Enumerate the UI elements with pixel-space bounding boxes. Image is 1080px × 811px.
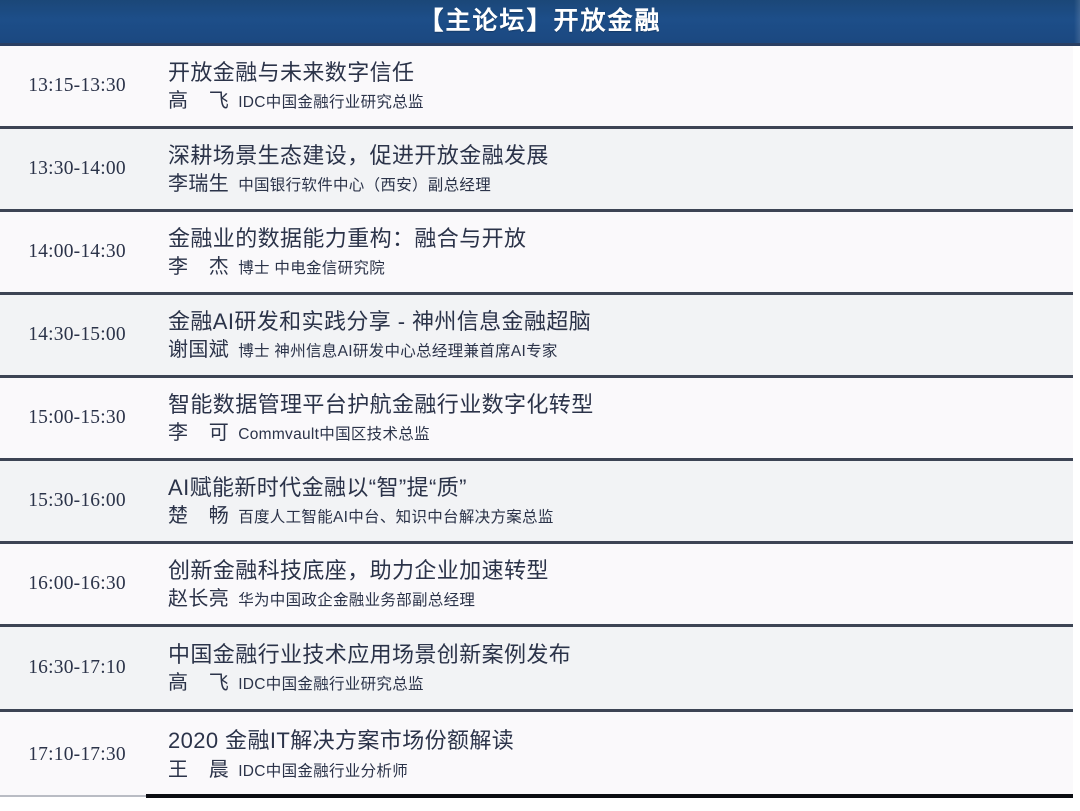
- session-time-cell: 15:00-15:30: [0, 378, 160, 458]
- session-speaker-line: 王 晨 IDC中国金融行业分析师: [168, 758, 1063, 782]
- session-time: 16:00-16:30: [28, 573, 126, 595]
- session-time-cell: 15:30-16:00: [0, 461, 160, 541]
- speaker-org: 博士 中电金信研究院: [238, 260, 385, 279]
- speaker-name: 李 杰: [168, 255, 229, 279]
- speaker-name: 李瑞生: [168, 172, 229, 196]
- session-row: 13:30-14:00 深耕场景生态建设，促进开放金融发展 李瑞生 中国银行软件…: [0, 129, 1073, 212]
- session-time: 14:00-14:30: [28, 241, 126, 263]
- session-time-cell: 16:00-16:30: [0, 544, 160, 624]
- session-row: 17:10-17:30 2020 金融IT解决方案市场份额解读 王 晨 IDC中…: [0, 712, 1073, 797]
- speaker-org: 华为中国政企金融业务部副总经理: [238, 592, 475, 611]
- session-time-cell: 14:00-14:30: [0, 212, 160, 292]
- session-info-cell: 创新金融科技底座，助力企业加速转型 赵长亮 华为中国政企金融业务部副总经理: [160, 544, 1073, 624]
- session-time: 17:10-17:30: [28, 744, 126, 766]
- session-time: 14:30-15:00: [28, 324, 126, 346]
- session-title: 智能数据管理平台护航金融行业数字化转型: [168, 391, 1063, 419]
- session-title: 中国金融行业技术应用场景创新案例发布: [168, 641, 1063, 669]
- session-time: 13:30-14:00: [28, 158, 126, 180]
- speaker-name: 谢国斌: [168, 338, 229, 362]
- session-info-cell: 金融业的数据能力重构：融合与开放 李 杰 博士 中电金信研究院: [160, 212, 1073, 292]
- speaker-org: 百度人工智能AI中台、知识中台解决方案总监: [238, 509, 553, 528]
- forum-banner: 【主论坛】开放金融: [0, 0, 1080, 46]
- session-time-cell: 13:15-13:30: [0, 46, 160, 126]
- session-time-cell: 17:10-17:30: [0, 712, 160, 797]
- session-speaker-line: 谢国斌 博士 神州信息AI研发中心总经理兼首席AI专家: [168, 338, 1063, 362]
- speaker-org: Commvault中国区技术总监: [238, 426, 430, 445]
- session-row: 15:30-16:00 AI赋能新时代金融以“智”提“质” 楚 畅 百度人工智能…: [0, 461, 1073, 544]
- speaker-org: 博士 神州信息AI研发中心总经理兼首席AI专家: [238, 343, 558, 362]
- session-row: 16:00-16:30 创新金融科技底座，助力企业加速转型 赵长亮 华为中国政企…: [0, 544, 1073, 627]
- session-title: 创新金融科技底座，助力企业加速转型: [168, 557, 1063, 585]
- session-info-cell: 深耕场景生态建设，促进开放金融发展 李瑞生 中国银行软件中心（西安）副总经理: [160, 129, 1073, 209]
- session-info-cell: 智能数据管理平台护航金融行业数字化转型 李 可 Commvault中国区技术总监: [160, 378, 1073, 458]
- session-info-cell: 2020 金融IT解决方案市场份额解读 王 晨 IDC中国金融行业分析师: [160, 712, 1073, 797]
- speaker-org: 中国银行软件中心（西安）副总经理: [238, 177, 491, 196]
- session-time: 16:30-17:10: [28, 657, 126, 679]
- session-speaker-line: 赵长亮 华为中国政企金融业务部副总经理: [168, 587, 1063, 611]
- banner-title: 【主论坛】开放金融: [418, 9, 661, 34]
- speaker-name: 高 飞: [168, 671, 229, 695]
- speaker-name: 李 可: [168, 421, 229, 445]
- speaker-org: IDC中国金融行业研究总监: [238, 94, 424, 113]
- session-title: 金融AI研发和实践分享 - 神州信息金融超脑: [168, 308, 1063, 336]
- session-speaker-line: 李 可 Commvault中国区技术总监: [168, 421, 1063, 445]
- session-time: 15:30-16:00: [28, 490, 126, 512]
- speaker-org: IDC中国金融行业分析师: [238, 763, 408, 782]
- session-title: 金融业的数据能力重构：融合与开放: [168, 225, 1063, 253]
- speaker-name: 高 飞: [168, 89, 229, 113]
- agenda-page: 【主论坛】开放金融 13:15-13:30 开放金融与未来数字信任 高 飞 ID…: [0, 0, 1080, 811]
- session-speaker-line: 李瑞生 中国银行软件中心（西安）副总经理: [168, 172, 1063, 196]
- session-info-cell: 中国金融行业技术应用场景创新案例发布 高 飞 IDC中国金融行业研究总监: [160, 627, 1073, 709]
- session-title: 2020 金融IT解决方案市场份额解读: [168, 727, 1063, 755]
- session-info-cell: 开放金融与未来数字信任 高 飞 IDC中国金融行业研究总监: [160, 46, 1073, 126]
- session-time: 15:00-15:30: [28, 407, 126, 429]
- session-row: 15:00-15:30 智能数据管理平台护航金融行业数字化转型 李 可 Comm…: [0, 378, 1073, 461]
- speaker-org: IDC中国金融行业研究总监: [238, 676, 424, 695]
- session-row: 14:00-14:30 金融业的数据能力重构：融合与开放 李 杰 博士 中电金信…: [0, 212, 1073, 295]
- session-speaker-line: 高 飞 IDC中国金融行业研究总监: [168, 671, 1063, 695]
- speaker-name: 赵长亮: [168, 587, 229, 611]
- session-list: 13:15-13:30 开放金融与未来数字信任 高 飞 IDC中国金融行业研究总…: [0, 46, 1080, 797]
- session-time-cell: 14:30-15:00: [0, 295, 160, 375]
- session-title: 开放金融与未来数字信任: [168, 59, 1063, 87]
- session-time-cell: 16:30-17:10: [0, 627, 160, 709]
- session-row: 16:30-17:10 中国金融行业技术应用场景创新案例发布 高 飞 IDC中国…: [0, 627, 1073, 712]
- session-speaker-line: 楚 畅 百度人工智能AI中台、知识中台解决方案总监: [168, 504, 1063, 528]
- session-title: AI赋能新时代金融以“智”提“质”: [168, 474, 1063, 502]
- session-info-cell: 金融AI研发和实践分享 - 神州信息金融超脑 谢国斌 博士 神州信息AI研发中心…: [160, 295, 1073, 375]
- speaker-name: 楚 畅: [168, 504, 229, 528]
- session-info-cell: AI赋能新时代金融以“智”提“质” 楚 畅 百度人工智能AI中台、知识中台解决方…: [160, 461, 1073, 541]
- speaker-name: 王 晨: [168, 758, 229, 782]
- session-title: 深耕场景生态建设，促进开放金融发展: [168, 142, 1063, 170]
- session-row: 13:15-13:30 开放金融与未来数字信任 高 飞 IDC中国金融行业研究总…: [0, 46, 1073, 129]
- session-time: 13:15-13:30: [28, 75, 126, 97]
- session-speaker-line: 高 飞 IDC中国金融行业研究总监: [168, 89, 1063, 113]
- session-row: 14:30-15:00 金融AI研发和实践分享 - 神州信息金融超脑 谢国斌 博…: [0, 295, 1073, 378]
- session-time-cell: 13:30-14:00: [0, 129, 160, 209]
- session-speaker-line: 李 杰 博士 中电金信研究院: [168, 255, 1063, 279]
